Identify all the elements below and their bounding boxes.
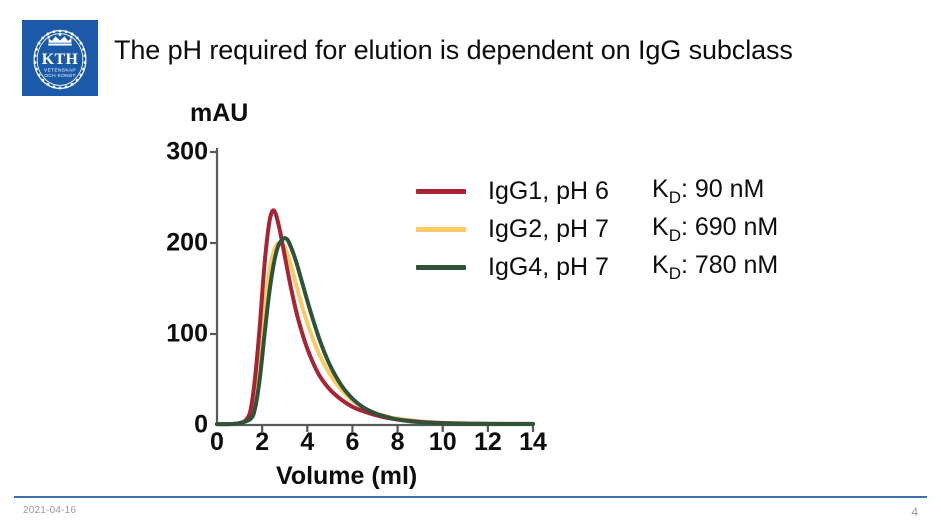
legend-kd-value: KD: 780 nM bbox=[652, 251, 778, 284]
legend-series-label: IgG4, pH 7 bbox=[488, 253, 652, 282]
legend-item: IgG4, pH 7KD: 780 nM bbox=[416, 248, 778, 286]
legend-color-swatch bbox=[416, 227, 466, 232]
legend-item: IgG1, pH 6KD: 90 nM bbox=[416, 172, 778, 210]
legend-item: IgG2, pH 7KD: 690 nM bbox=[416, 210, 778, 248]
chart-legend: IgG1, pH 6KD: 90 nMIgG2, pH 7KD: 690 nMI… bbox=[416, 172, 778, 286]
legend-series-label: IgG1, pH 6 bbox=[488, 177, 652, 206]
footer-date: 2021-04-16 bbox=[23, 505, 76, 516]
legend-color-swatch bbox=[416, 189, 466, 194]
legend-color-swatch bbox=[416, 265, 466, 270]
chromatogram-chart: mAU Volume (ml) 0100200300 02468101214 I… bbox=[0, 0, 941, 500]
legend-kd-value: KD: 690 nM bbox=[652, 213, 778, 246]
legend-series-label: IgG2, pH 7 bbox=[488, 215, 652, 244]
legend-kd-value: KD: 90 nM bbox=[652, 175, 764, 208]
footer-divider bbox=[14, 496, 927, 498]
slide: KTH VETENSKAP OCH KONST The pH required … bbox=[0, 0, 941, 529]
footer-page-number: 4 bbox=[911, 505, 918, 519]
